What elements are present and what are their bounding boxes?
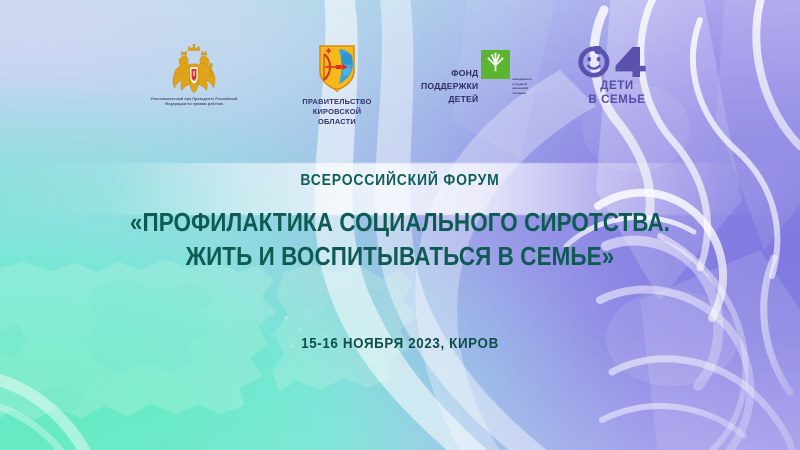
kirov-oblast-coat-of-arms-icon [317,42,357,92]
logo-fond-word3: ДЕТЕЙ [421,93,478,106]
logo-deti-caption: ДЕТИ В СЕМЬЕ [588,80,645,107]
event-date-location: 15-16 НОЯБРЯ 2023, КИРОВ [32,336,768,352]
forum-kicker: ВСЕРОССИЙСКИЙ ФОРУМ [40,172,760,190]
logo-fond-subtitle: находящихся в трудной жизненной ситуации [512,50,533,96]
logo-fond-podderzhki-detey: ФОНД ПОДДЕРЖКИ ДЕТЕЙ [421,42,533,106]
headline-block: ВСЕРОССИЙСКИЙ ФОРУМ «ПРОФИЛАКТИКА СОЦИАЛ… [0,172,800,274]
forum-title: «ПРОФИЛАКТИКА СОЦИАЛЬНОГО СИРОТСТВА. ЖИТ… [48,207,752,274]
logo-fond-word1: ФОНД [421,67,478,80]
logo-fond-word2: ПОДДЕРЖКИ [421,80,478,93]
logo-deti-caption-line1: ДЕТИ [588,80,645,94]
logo-kirov-government: ПРАВИТЕЛЬСТВО КИРОВСКОЙ ОБЛАСТИ [289,42,385,128]
green-tree-square-icon [481,50,510,79]
russian-federation-double-headed-eagle-icon [168,44,220,94]
logo-kirov-caption-line2: КИРОВСКОЙ [302,107,371,117]
logo-deti-caption-line2: В СЕМЬЕ [588,94,645,108]
logo-ombudsman: Уполномоченный при Президенте Российской… [135,42,253,108]
logo-kirov-caption-line3: ОБЛАСТИ [302,117,371,127]
logo-ombudsman-caption: Уполномоченный при Президенте Российской… [140,97,248,108]
logo-deti-v-semye: ДЕТИ В СЕМЬЕ [569,42,665,107]
forum-banner: Уполномоченный при Президенте Российской… [0,0,800,450]
logo-kirov-caption-line1: ПРАВИТЕЛЬСТВО [302,97,371,107]
baby-face-zero-four-icon [576,46,659,78]
logo-strip: Уполномоченный при Президенте Российской… [0,42,800,128]
logo-fond-wordmark: ФОНД ПОДДЕРЖКИ ДЕТЕЙ [421,50,478,106]
logo-kirov-caption: ПРАВИТЕЛЬСТВО КИРОВСКОЙ ОБЛАСТИ [302,97,371,128]
